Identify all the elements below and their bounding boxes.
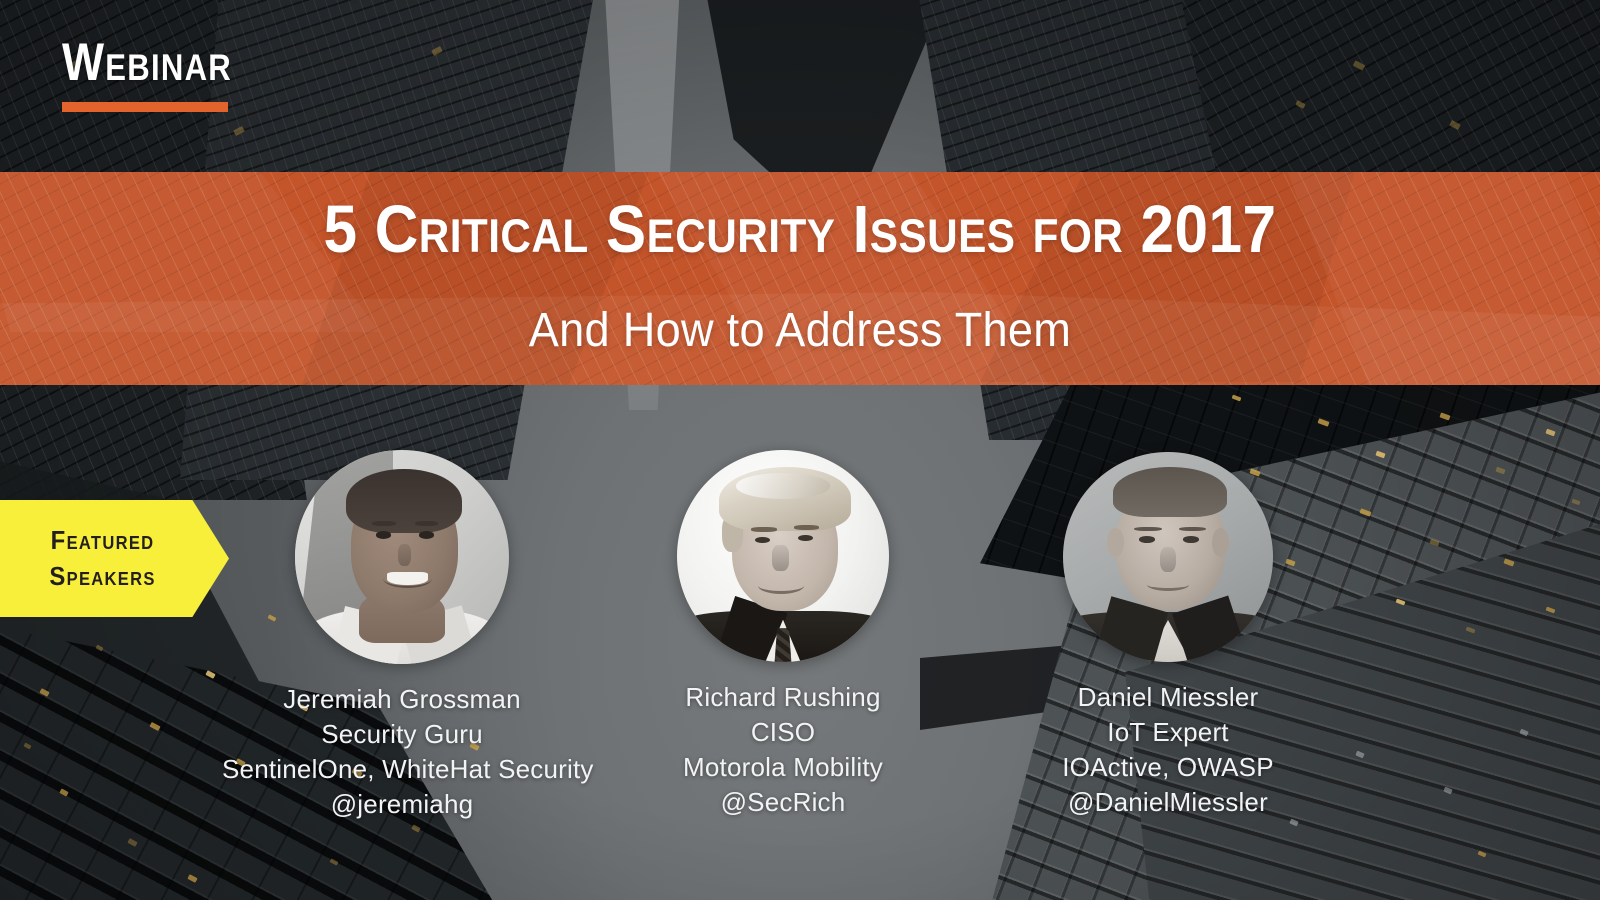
speaker-3-role: IoT Expert xyxy=(988,715,1348,750)
speaker-card-1: Jeremiah Grossman Security Guru Sentinel… xyxy=(222,450,582,822)
featured-speakers-line-1: Featured xyxy=(9,527,220,554)
speaker-1-role: Security Guru xyxy=(222,717,582,752)
speaker-1-details: Jeremiah Grossman Security Guru Sentinel… xyxy=(222,682,582,822)
avatar-richard-rushing xyxy=(677,450,889,662)
featured-speakers-flag: Featured Speakers xyxy=(0,500,229,617)
speaker-1-name: Jeremiah Grossman xyxy=(222,682,582,717)
avatar-jeremiah-grossman xyxy=(295,450,509,664)
webinar-underline-rule xyxy=(62,102,228,112)
speaker-2-company: Motorola Mobility xyxy=(603,750,963,785)
speaker-3-details: Daniel Miessler IoT Expert IOActive, OWA… xyxy=(988,680,1348,820)
speaker-3-name: Daniel Miessler xyxy=(988,680,1348,715)
webinar-promo-graphic: Webinar 5 Critical Security Issues for 2… xyxy=(0,0,1600,900)
speaker-card-3: Daniel Miessler IoT Expert IOActive, OWA… xyxy=(988,452,1348,820)
featured-speakers-line-2: Speakers xyxy=(9,563,220,590)
speaker-3-company: IOActive, OWASP xyxy=(988,750,1348,785)
speaker-2-name: Richard Rushing xyxy=(603,680,963,715)
speaker-2-handle: @SecRich xyxy=(603,785,963,820)
speaker-1-handle: @jeremiahg xyxy=(222,787,582,822)
page-subtitle: And How to Address Them xyxy=(48,307,1552,355)
webinar-label: Webinar xyxy=(62,36,232,89)
page-title: 5 Critical Security Issues for 2017 xyxy=(80,196,1520,263)
speaker-3-handle: @DanielMiessler xyxy=(988,785,1348,820)
speaker-card-2: Richard Rushing CISO Motorola Mobility @… xyxy=(603,450,963,820)
speaker-1-company: SentinelOne, WhiteHat Security xyxy=(222,752,582,787)
speaker-2-details: Richard Rushing CISO Motorola Mobility @… xyxy=(603,680,963,820)
webinar-eyebrow: Webinar xyxy=(62,36,264,112)
speaker-2-role: CISO xyxy=(603,715,963,750)
avatar-daniel-miessler xyxy=(1063,452,1273,662)
